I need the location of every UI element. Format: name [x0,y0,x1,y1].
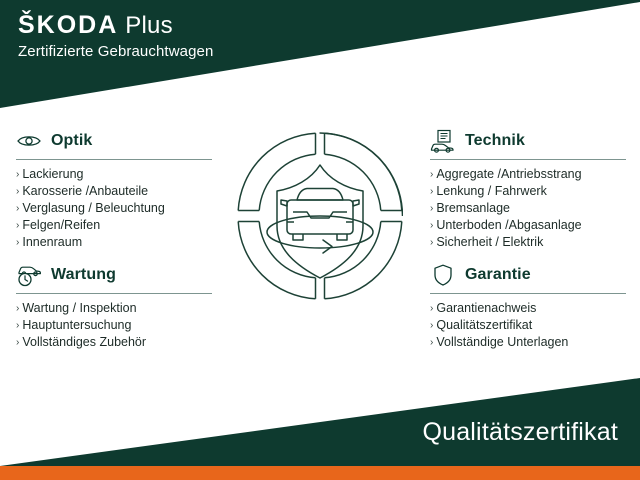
emblem-orbit [267,216,373,248]
section-header: Garantie [430,262,630,288]
eye-icon [16,129,42,153]
list-item-label: Lenkung / Fahrwerk [436,183,546,200]
footer-band [0,348,640,468]
list-item-label: Qualitätszertifikat [436,317,532,334]
list-item: ›Karosserie /Anbauteile [16,183,216,200]
section-rule [430,293,626,294]
list-item: ›Sicherheit / Elektrik [430,234,630,251]
list-item-label: Bremsanlage [436,200,510,217]
section-list: ›Lackierung ›Karosserie /Anbauteile ›Ver… [16,166,216,251]
chevron-icon: › [430,234,433,251]
list-item: ›Bremsanlage [430,200,630,217]
section-title: Wartung [51,266,116,284]
chevron-icon: › [16,234,19,251]
shield-icon [430,263,456,287]
chevron-icon: › [16,334,19,351]
list-item-label: Innenraum [22,234,82,251]
list-item-label: Aggregate /Antriebsstrang [436,166,581,183]
chevron-icon: › [16,183,19,200]
section-header: Optik [16,128,216,154]
list-item: ›Hauptuntersuchung [16,317,216,334]
section-title: Optik [51,132,92,150]
list-item: ›Vollständige Unterlagen [430,334,630,351]
list-item-label: Hauptuntersuchung [22,317,131,334]
chevron-icon: › [430,317,433,334]
brand-wordmark: ŠKODA [18,13,118,38]
list-item: ›Innenraum [16,234,216,251]
list-item-label: Vollständige Unterlagen [436,334,568,351]
brand-sub-label: Plus [125,14,173,38]
list-item: ›Verglasung / Beleuchtung [16,200,216,217]
section-optik: Optik ›Lackierung ›Karosserie /Anbauteil… [16,128,216,251]
chevron-icon: › [430,200,433,217]
chevron-icon: › [430,300,433,317]
brand-row: ŠKODA Plus [18,13,213,38]
section-list: ›Garantienachweis ›Qualitätszertifikat ›… [430,300,630,351]
list-item-label: Karosserie /Anbauteile [22,183,148,200]
list-item: ›Unterboden /Abgasanlage [430,217,630,234]
list-item: ›Lackierung [16,166,216,183]
list-item: ›Wartung / Inspektion [16,300,216,317]
shield-car-inspection-emblem [237,128,403,304]
car-document-icon [430,129,456,153]
list-item-label: Lackierung [22,166,83,183]
certificate-page: ŠKODA Plus Zertifizierte Gebrauchtwagen … [0,0,640,480]
chevron-icon: › [16,166,19,183]
list-item-label: Felgen/Reifen [22,217,100,234]
list-item-label: Vollständiges Zubehör [22,334,146,351]
list-item: ›Vollständiges Zubehör [16,334,216,351]
section-rule [430,159,626,160]
chevron-icon: › [430,334,433,351]
section-rule [16,159,212,160]
brand-lockup: ŠKODA Plus Zertifizierte Gebrauchtwagen [18,13,213,60]
chevron-icon: › [16,200,19,217]
list-item: ›Felgen/Reifen [16,217,216,234]
car-service-clock-icon [16,263,42,287]
section-wartung: Wartung ›Wartung / Inspektion ›Hauptunte… [16,262,216,351]
list-item-label: Verglasung / Beleuchtung [22,200,164,217]
chevron-icon: › [430,217,433,234]
section-header: Wartung [16,262,216,288]
section-list: ›Wartung / Inspektion ›Hauptuntersuchung… [16,300,216,351]
section-title: Garantie [465,266,531,284]
brand-tagline: Zertifizierte Gebrauchtwagen [18,43,213,60]
chevron-icon: › [430,166,433,183]
list-item: ›Garantienachweis [430,300,630,317]
list-item: ›Aggregate /Antriebsstrang [430,166,630,183]
section-garantie: Garantie ›Garantienachweis ›Qualitätszer… [430,262,630,351]
chevron-icon: › [16,317,19,334]
accent-bar [0,466,640,480]
list-item-label: Garantienachweis [436,300,536,317]
section-technik: Technik ›Aggregate /Antriebsstrang ›Lenk… [430,128,630,251]
emblem-car [281,189,359,241]
emblem-outer-ring [320,133,403,216]
section-title: Technik [465,132,525,150]
list-item-label: Sicherheit / Elektrik [436,234,543,251]
list-item: ›Qualitätszertifikat [430,317,630,334]
chevron-icon: › [16,300,19,317]
section-rule [16,293,212,294]
list-item: ›Lenkung / Fahrwerk [430,183,630,200]
list-item-label: Wartung / Inspektion [22,300,136,317]
section-header: Technik [430,128,630,154]
footer-title: Qualitätszertifikat [422,418,618,447]
chevron-icon: › [430,183,433,200]
chevron-icon: › [16,217,19,234]
section-list: ›Aggregate /Antriebsstrang ›Lenkung / Fa… [430,166,630,251]
list-item-label: Unterboden /Abgasanlage [436,217,581,234]
emblem-arrow [323,240,332,253]
